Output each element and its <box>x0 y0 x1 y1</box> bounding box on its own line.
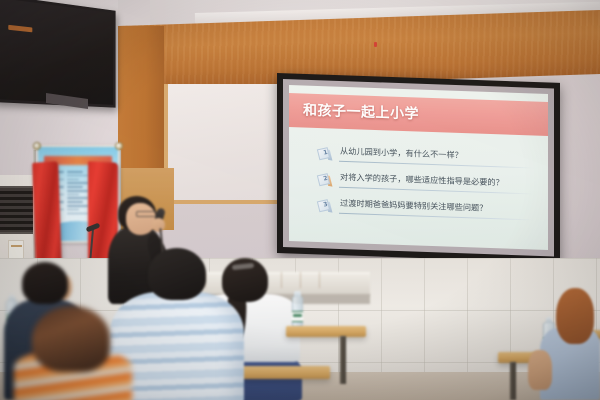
bottle-cap <box>546 317 553 323</box>
desk-leg <box>510 362 516 400</box>
audience-head <box>22 262 68 304</box>
numbered-cube-icon: 1 <box>317 145 332 161</box>
slide-title: 和孩子一起上小学 <box>303 99 419 123</box>
slide-bullet-underline <box>339 213 534 221</box>
slide-bullet-text: 过渡时期爸爸妈妈要特别关注哪些问题？ <box>340 197 487 214</box>
notice-heading-bar <box>11 245 22 247</box>
bottle-cap <box>9 295 16 301</box>
presenter-hand <box>152 218 165 232</box>
poster-mount-knob-left <box>33 142 41 150</box>
poster-mount-knob-right <box>115 142 123 150</box>
bottle-label <box>292 311 303 322</box>
water-bottle-2 <box>292 296 303 329</box>
slide-bullet-text: 从幼儿园到小学，有什么不一样？ <box>340 145 463 161</box>
numbered-cube-icon: 2 <box>317 171 332 187</box>
wall-marker-dot <box>374 42 377 47</box>
slide-bullet-list: 1 从幼儿园到小学，有什么不一样？ 2 对将入学的孩子，哪些适应性指导是必要的？ <box>317 140 538 226</box>
wood-panel-column <box>118 26 164 171</box>
audience-head <box>148 248 206 300</box>
numbered-cube-icon: 3 <box>317 197 332 213</box>
presentation-slide: 和孩子一起上小学 1 从幼儿园到小学，有什么不一样？ 2 对将入学的孩子，哪些适… <box>289 85 548 250</box>
flag-left <box>32 161 62 268</box>
audience-hair <box>556 288 594 344</box>
poster-column <box>67 171 88 223</box>
desk-leg <box>340 336 346 384</box>
presenter-face <box>126 203 156 235</box>
television-logo <box>8 25 32 33</box>
bottle-cap <box>294 291 300 297</box>
audience-hair <box>32 306 110 372</box>
desk-center <box>286 326 366 337</box>
audience-arm <box>528 350 552 390</box>
eyeglasses-icon <box>136 211 157 217</box>
whiteboard <box>164 84 284 204</box>
slide-bullet-text: 对将入学的孩子，哪些适应性指导是必要的？ <box>340 171 504 189</box>
photograph-classroom-presentation: 和孩子一起上小学 1 从幼儿园到小学，有什么不一样？ 2 对将入学的孩子，哪些适… <box>0 0 600 400</box>
corner-television <box>0 0 116 108</box>
